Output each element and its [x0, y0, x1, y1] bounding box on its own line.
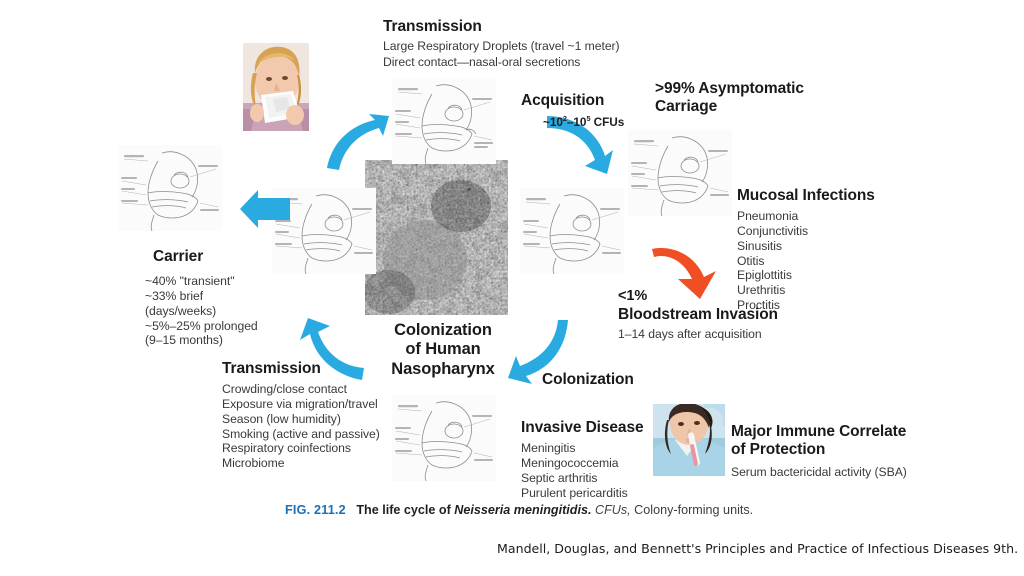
colonization-center-line-2: of Human — [378, 340, 508, 359]
carrier-stat-item: ~40% "transient" — [145, 274, 258, 289]
figure-caption: FIG. 211.2 The life cycle of Neisseria m… — [285, 503, 753, 517]
transmission-bottom-heading: Transmission — [222, 360, 380, 378]
immune-correlate-block: Major Immune Correlate of Protection Ser… — [731, 423, 907, 481]
transmission-top-line-1: Large Respiratory Droplets (travel ~1 me… — [383, 39, 620, 55]
carrier-stat-item: (9–15 months) — [145, 333, 258, 348]
asymptomatic-carriage-line-2: Carriage — [655, 98, 804, 116]
transmission-bottom-block: Transmission Crowding/close contact Expo… — [222, 360, 380, 471]
transmission-risk-item: Exposure via migration/travel — [222, 397, 380, 412]
immune-correlate-detail: Serum bactericidal activity (SBA) — [731, 465, 907, 481]
bloodstream-invasion-subtitle: 1–14 days after acquisition — [618, 327, 778, 343]
nasopharynx-diagram-center-right — [520, 188, 624, 274]
acquisition-heading: Acquisition — [521, 92, 624, 110]
invasive-disease-item: Meningitis — [521, 441, 644, 456]
transmission-risk-item: Season (low humidity) — [222, 412, 380, 427]
transmission-risk-item: Crowding/close contact — [222, 382, 380, 397]
bloodstream-invasion-percent: <1% — [618, 288, 778, 305]
colonization-center-line-3: Nasopharynx — [378, 360, 508, 379]
asymptomatic-carriage-block: >99% Asymptomatic Carriage — [655, 80, 804, 116]
caption-title-prefix: The life cycle of — [356, 503, 454, 517]
transmission-top-line-2: Direct contact—nasal-oral secretions — [383, 55, 620, 71]
carrier-block: Carrier ~40% "transient" ~33% brief (day… — [145, 248, 258, 348]
cycle-arrow-carrier — [238, 188, 292, 232]
sick-child-photo — [653, 404, 725, 476]
asymptomatic-carriage-line-1: >99% Asymptomatic — [655, 80, 804, 98]
mucosal-infection-item: Epiglottitis — [737, 268, 875, 283]
caption-abbrev: CFUs, — [595, 503, 631, 517]
nasopharynx-diagram-top — [392, 78, 496, 164]
transmission-top-heading: Transmission — [383, 18, 620, 36]
carrier-stat-item: ~33% brief — [145, 289, 258, 304]
acquisition-block: Acquisition ~102–105 CFUs — [521, 92, 624, 130]
nasopharynx-diagram-left — [118, 145, 222, 231]
transmission-risk-item: Smoking (active and passive) — [222, 427, 380, 442]
immune-correlate-line-1: Major Immune Correlate — [731, 423, 907, 441]
caption-abbrev-definition: Colony-forming units. — [631, 503, 754, 517]
caption-organism: Neisseria meningitidis. — [454, 503, 591, 517]
figure-number: FIG. 211.2 — [285, 503, 346, 517]
mucosal-infection-item: Sinusitis — [737, 239, 875, 254]
bloodstream-invasion-heading: Bloodstream Invasion — [618, 306, 778, 324]
figure-canvas: Transmission Large Respiratory Droplets … — [0, 0, 1024, 576]
transmission-risk-item: Microbiome — [222, 456, 380, 471]
colonization-center-line-1: Colonization — [378, 321, 508, 340]
cycle-arrow-transmission — [325, 112, 391, 178]
colonization-center-block: Colonization of Human Nasopharynx — [378, 321, 508, 379]
mucosal-infection-item: Pneumonia — [737, 209, 875, 224]
carrier-stat-item: (days/weeks) — [145, 304, 258, 319]
nasopharynx-diagram-bottom — [392, 395, 496, 481]
nasopharynx-micrograph — [365, 160, 508, 315]
mucosal-infection-item: Conjunctivitis — [737, 224, 875, 239]
mucosal-infections-heading: Mucosal Infections — [737, 187, 875, 205]
carrier-heading: Carrier — [145, 248, 258, 266]
nasopharynx-diagram-right — [628, 130, 732, 216]
invasive-disease-item: Meningococcemia — [521, 456, 644, 471]
bloodstream-invasion-block: <1% Bloodstream Invasion 1–14 days after… — [618, 288, 778, 342]
mucosal-infection-item: Otitis — [737, 254, 875, 269]
invasive-disease-heading: Invasive Disease — [521, 419, 644, 437]
transmission-top-block: Transmission Large Respiratory Droplets … — [383, 18, 620, 70]
colonization-arrow-label: Colonization — [542, 371, 634, 389]
carrier-stat-item: ~5%–25% prolonged — [145, 319, 258, 334]
sneezing-woman-photo — [243, 43, 309, 131]
immune-correlate-line-2: of Protection — [731, 441, 907, 459]
invasive-disease-item: Purulent pericarditis — [521, 486, 644, 501]
invasive-disease-block: Invasive Disease Meningitis Meningococce… — [521, 419, 644, 500]
acquisition-dose: ~102–105 CFUs — [521, 114, 624, 130]
invasive-disease-item: Septic arthritis — [521, 471, 644, 486]
transmission-risk-item: Respiratory coinfections — [222, 441, 380, 456]
source-attribution: Mandell, Douglas, and Bennett's Principl… — [497, 541, 1018, 556]
